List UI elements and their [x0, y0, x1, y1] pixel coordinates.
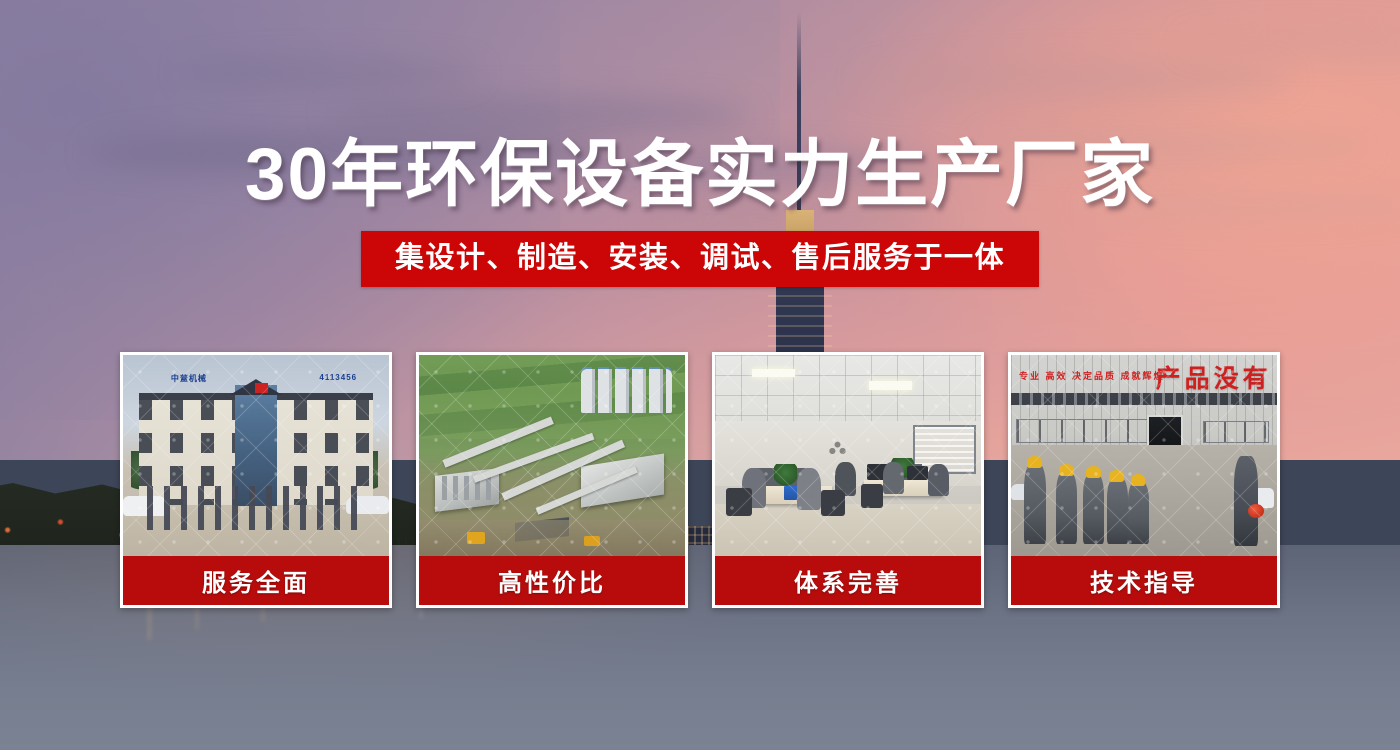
- feature-card[interactable]: 产品没有 专业 高效 决定品质 成就辉煌: [1008, 352, 1280, 608]
- cloud-layer: [330, 96, 750, 134]
- workers-training-photo: 产品没有 专业 高效 决定品质 成就辉煌: [1011, 355, 1277, 556]
- building-phone-text: 4113456: [319, 373, 357, 382]
- banner-stage: 30年环保设备实力生产厂家 集设计、制造、安装、调试、售后服务于一体 中蓋机械 …: [0, 0, 1400, 750]
- feature-card[interactable]: 高性价比: [416, 352, 688, 608]
- banner-subtitle-bar: 集设计、制造、安装、调试、售后服务于一体: [361, 231, 1039, 287]
- feature-card-caption: 服务全面: [123, 556, 389, 605]
- company-building-staff-photo: 中蓋机械 4113456: [123, 355, 389, 556]
- feature-card-list: 中蓋机械 4113456 服务全面: [120, 352, 1280, 608]
- aerial-industrial-plant-photo: [419, 355, 685, 556]
- factory-wall-headline: 产品没有: [1156, 359, 1272, 395]
- feature-card-caption: 体系完善: [715, 556, 981, 605]
- banner-headline: 30年环保设备实力生产厂家: [0, 134, 1400, 216]
- cloud-layer: [180, 58, 480, 88]
- feature-card[interactable]: 中蓋机械 4113456 服务全面: [120, 352, 392, 608]
- factory-wall-slogans: 专业 高效 决定品质 成就辉煌: [1019, 371, 1165, 382]
- feature-card-caption: 技术指导: [1011, 556, 1277, 605]
- feature-card-caption: 高性价比: [419, 556, 685, 605]
- office-interior-photo: [715, 355, 981, 556]
- feature-card[interactable]: 体系完善: [712, 352, 984, 608]
- building-sign-text: 中蓋机械: [171, 373, 207, 384]
- cloud-layer: [860, 60, 1290, 100]
